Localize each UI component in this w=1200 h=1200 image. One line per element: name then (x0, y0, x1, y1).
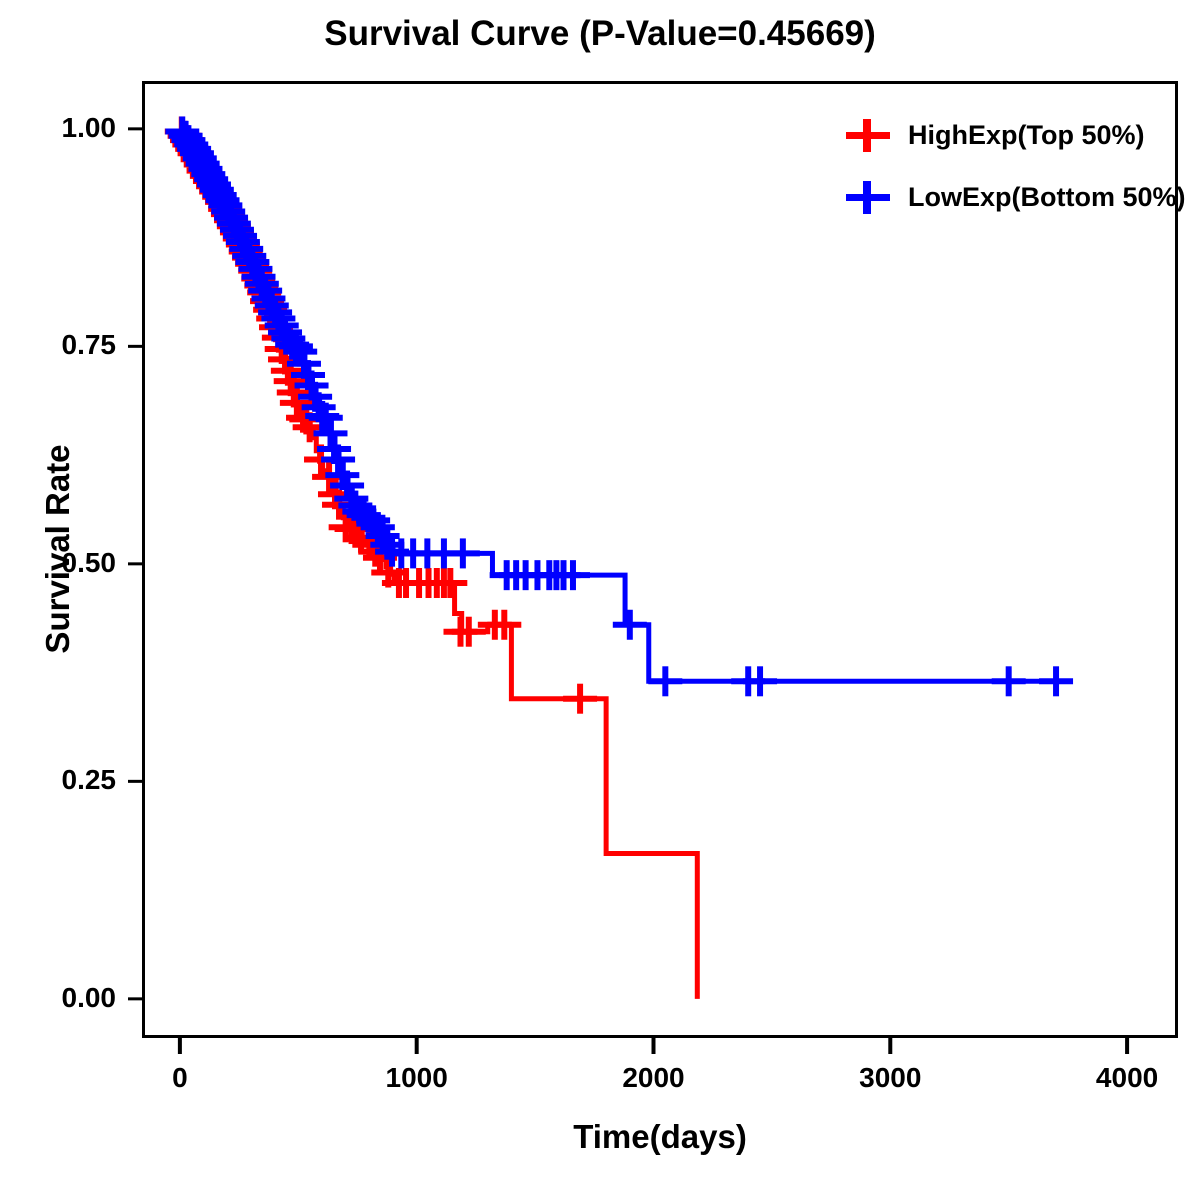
legend-item-low-exp[interactable]: LowExp(Bottom 50%) (842, 166, 1172, 228)
y-tick-label: 0.00 (6, 982, 116, 1014)
chart-legend: HighExp(Top 50%)LowExp(Bottom 50%) (842, 104, 1172, 228)
x-tick-label: 1000 (337, 1062, 497, 1094)
y-tick-label: 1.00 (6, 112, 116, 144)
legend-item-high-exp[interactable]: HighExp(Top 50%) (842, 104, 1172, 166)
y-tick-label: 0.25 (6, 764, 116, 796)
survival-curve-figure: Survival Curve (P-Value=0.45669) 0.000.2… (0, 0, 1200, 1200)
x-axis-title: Time(days) (142, 1118, 1178, 1156)
x-tick-label: 2000 (573, 1062, 733, 1094)
y-tick-label: 0.75 (6, 329, 116, 361)
x-tick-label: 4000 (1047, 1062, 1200, 1094)
x-tick-label: 0 (100, 1062, 260, 1094)
series-layer (165, 116, 1073, 998)
legend-cross-icon (842, 115, 894, 155)
legend-item-label: LowExp(Bottom 50%) (894, 182, 1186, 213)
legend-item-label: HighExp(Top 50%) (894, 120, 1145, 151)
x-tick-label: 3000 (810, 1062, 970, 1094)
legend-cross-icon (842, 177, 894, 217)
y-axis-title: Survival Rate (39, 399, 77, 699)
